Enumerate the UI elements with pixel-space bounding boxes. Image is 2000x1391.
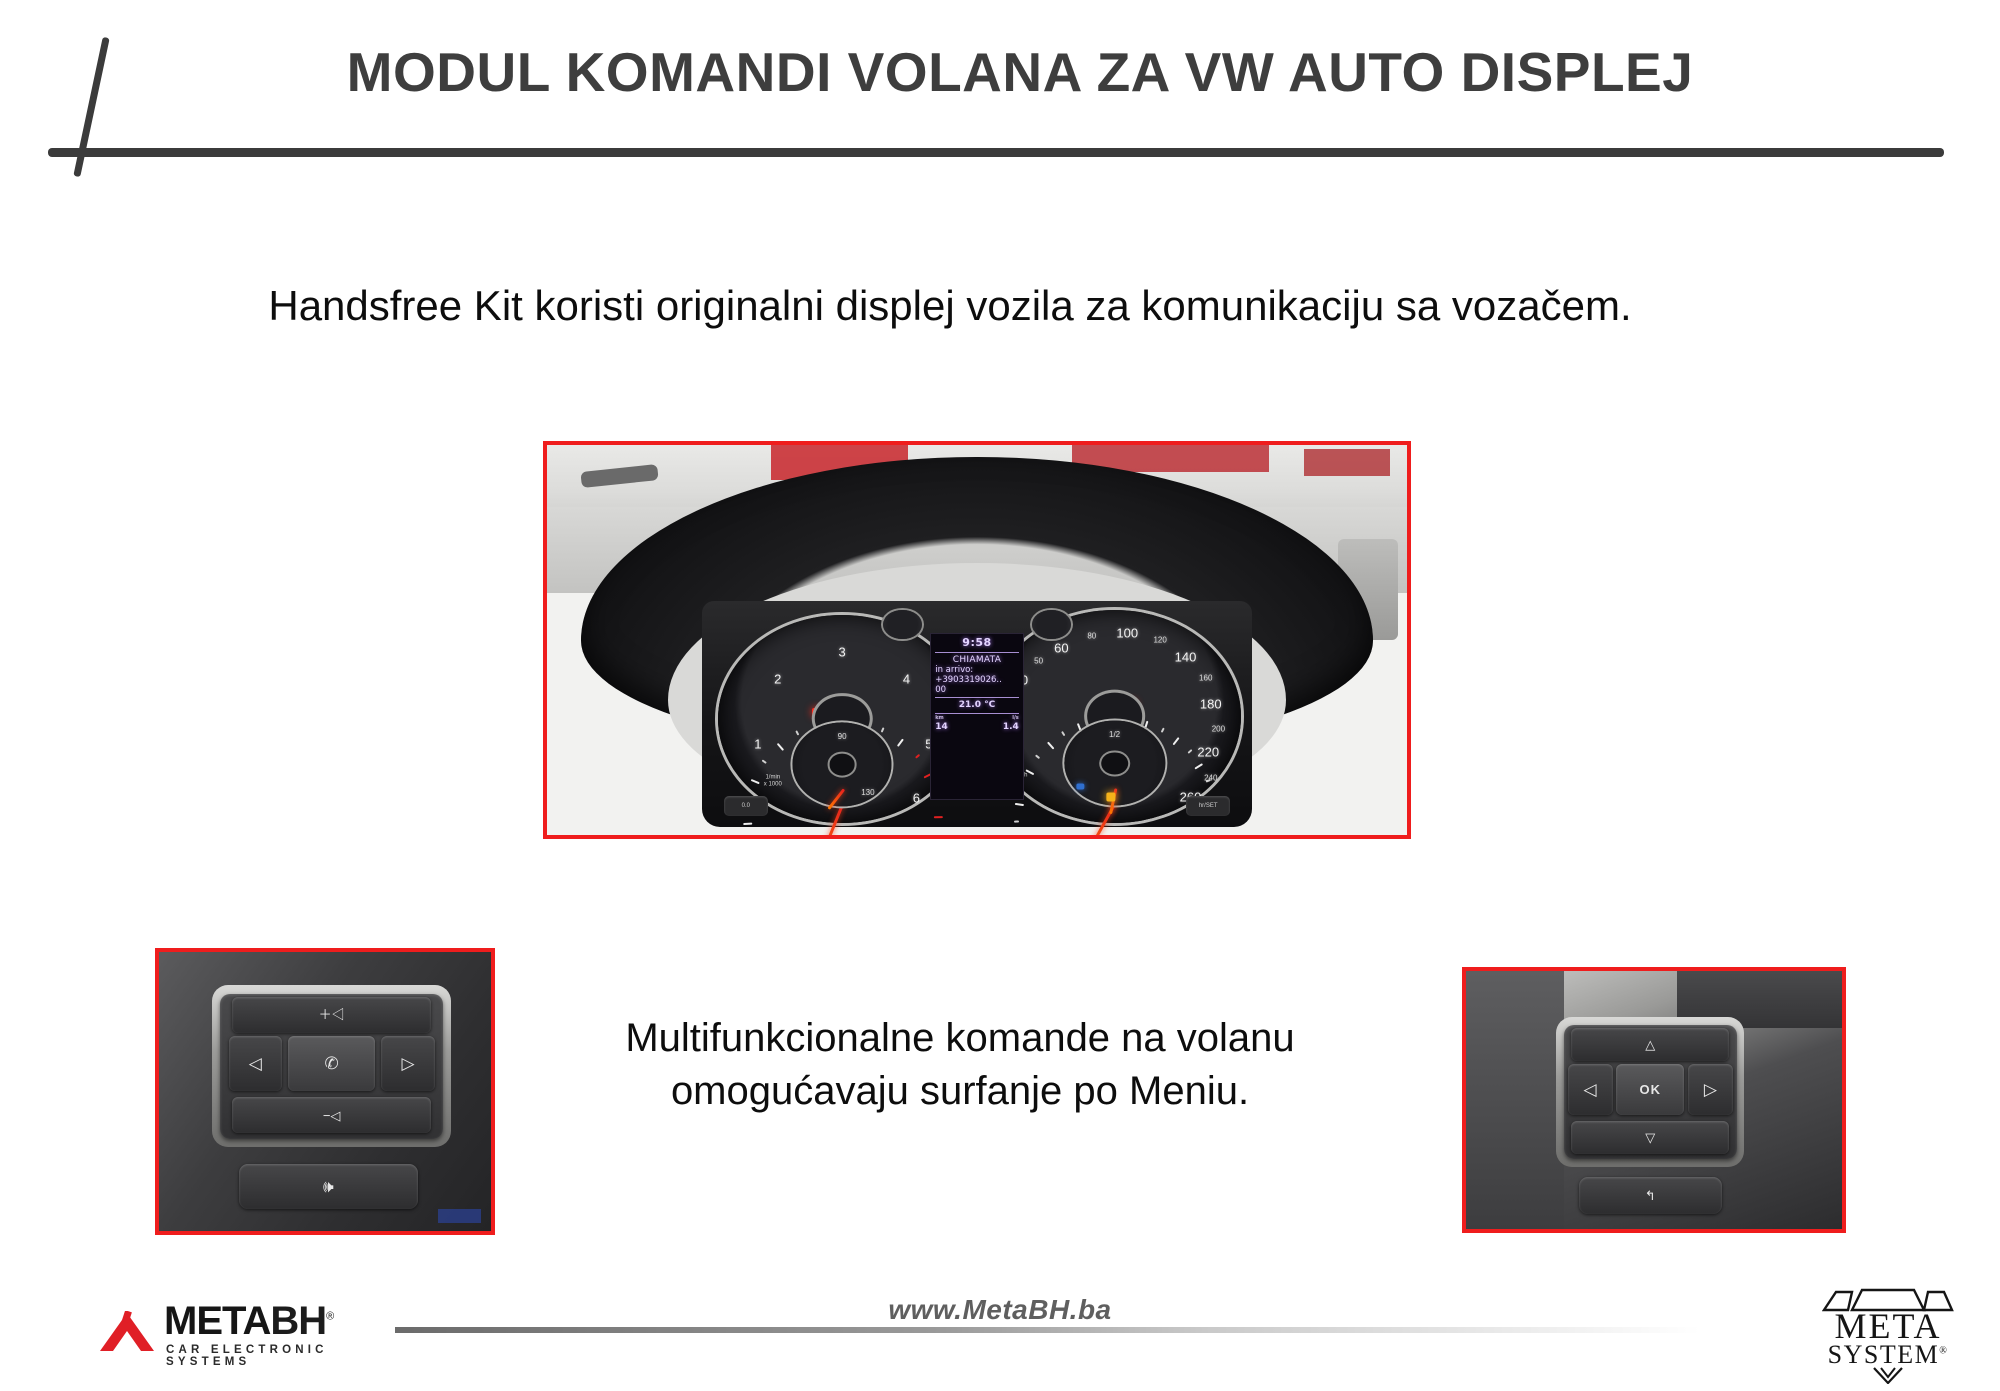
down-arrow-icon: ▽	[1645, 1131, 1655, 1144]
vw-instrument-cluster-photo: 1 2 3 4 5 6 1/min x 1000 0 90 130	[543, 441, 1411, 839]
back-arrow-icon: ↰	[1645, 1189, 1656, 1202]
trip-reset-button[interactable]: 0.0	[724, 796, 768, 816]
left-arrow-icon: ◁	[1584, 1081, 1597, 1098]
previous-button[interactable]: ◁	[229, 1036, 282, 1092]
speedo-label-140: 140	[1175, 649, 1197, 664]
speedo-label-160: 160	[1199, 674, 1212, 683]
mfd-divider	[935, 713, 1019, 714]
mfd-trip-left-unit: km	[935, 716, 944, 722]
speedo-label-50: 50	[1034, 657, 1043, 666]
right-wheel-leather-grip	[1466, 971, 1564, 1229]
tacho-label-2: 2	[774, 672, 781, 687]
coolant-label-130: 130	[861, 788, 874, 797]
fuel-level-gauge: 1/2	[1064, 721, 1165, 806]
fuel-label-half: 1/2	[1109, 730, 1120, 739]
page-title: MODUL KOMANDI VOLANA ZA VW AUTO DISPLEJ	[170, 40, 1870, 104]
metabh-registered-mark: ®	[326, 1311, 333, 1323]
mfd-trip-consumption: 1.4	[1003, 722, 1019, 733]
left-steering-wheel-controls-photo: ＋◁ ◁ ✆ ▷ −◁ 🕪	[155, 948, 495, 1235]
tacho-label-4: 4	[903, 672, 910, 687]
tacho-redline-tick	[843, 816, 943, 820]
coolant-label-90: 90	[838, 732, 847, 741]
phone-button[interactable]: ✆	[288, 1036, 374, 1092]
clock-set-button[interactable]: hr/SET	[1186, 796, 1230, 816]
up-arrow-icon: △	[1645, 1038, 1655, 1051]
tacho-label-1: 1	[754, 736, 761, 751]
phone-handset-icon: ✆	[325, 1055, 339, 1072]
speedometer-gauge: 0 10 20 30 40 50 60 80 100 120 140 160 1…	[988, 610, 1241, 823]
metabh-wordmark: METABH®	[164, 1301, 333, 1341]
mfd-caller-number: +3903319026..	[935, 675, 1019, 685]
intro-text: Handsfree Kit koristi originalni displej…	[140, 282, 1760, 330]
next-button[interactable]: ▷	[381, 1036, 434, 1092]
metasystem-registered-mark: ®	[1939, 1345, 1948, 1356]
speedo-label-100: 100	[1116, 626, 1138, 641]
controls-caption: Multifunkcionalne komande na volanu omog…	[540, 1012, 1380, 1118]
down-button[interactable]: ▽	[1571, 1121, 1729, 1155]
volume-up-button[interactable]: ＋◁	[232, 997, 431, 1033]
metabh-chevron-icon	[98, 1311, 156, 1353]
volume-down-button[interactable]: −◁	[232, 1097, 431, 1133]
left-photo-blue-artifact	[438, 1209, 481, 1223]
right-steering-wheel-controls-photo: △ ◁ OK ▷ ▽ ↰	[1462, 967, 1846, 1233]
left-arrow-icon: ◁	[249, 1055, 262, 1072]
metabh-word-bh: BH	[270, 1299, 326, 1343]
fuel-reserve-led	[1106, 792, 1115, 801]
coolant-hub	[829, 754, 855, 776]
slide-header: MODUL KOMANDI VOLANA ZA VW AUTO DISPLEJ	[0, 0, 2000, 180]
tacho-label-3: 3	[839, 645, 846, 660]
mfd-divider	[935, 697, 1019, 698]
mfd-trip-values: 14 1.4	[935, 722, 1019, 733]
tachometer-gauge: 1 2 3 4 5 6 1/min x 1000 0 90 130	[718, 615, 966, 823]
background-red-object-right	[1304, 449, 1390, 476]
metasystem-system-text: SYSTEM	[1828, 1340, 1940, 1369]
tacho-unit-label: 1/min x 1000	[764, 774, 782, 787]
metasystem-word-system: SYSTEM®	[1800, 1342, 1976, 1368]
volume-down-icon: −◁	[323, 1109, 341, 1122]
mfd-divider	[935, 652, 1019, 653]
speedo-label-180: 180	[1200, 696, 1222, 711]
right-arrow-icon: ▷	[1704, 1081, 1717, 1098]
mfd-call-status: in arrivo:	[935, 665, 1019, 675]
speedo-label-60: 60	[1054, 641, 1068, 656]
voice-control-button[interactable]: 🕪	[239, 1164, 418, 1209]
up-button[interactable]: △	[1571, 1028, 1729, 1062]
metabh-tagline: CAR ELECTRONIC SYSTEMS	[166, 1344, 388, 1368]
metabh-logo: METABH® CAR ELECTRONIC SYSTEMS	[98, 1301, 388, 1363]
mfd-trip-distance: 14	[935, 722, 948, 733]
cluster-scene: 1 2 3 4 5 6 1/min x 1000 0 90 130	[547, 445, 1407, 835]
metasystem-logo: META SYSTEM®	[1800, 1288, 1976, 1384]
cluster-bezel-pod-right	[1032, 610, 1071, 639]
fuel-warning-led-blue	[1076, 784, 1084, 790]
right-arrow-icon: ▷	[401, 1055, 414, 1072]
tacho-label-6: 6	[913, 790, 920, 805]
header-divider-rule	[48, 148, 1944, 157]
mfd-caller-number-cont: 00	[935, 685, 1019, 695]
right-button[interactable]: ▷	[1688, 1064, 1733, 1116]
mfd-outside-temperature: 21.0 °C	[935, 700, 1019, 711]
left-button[interactable]: ◁	[1568, 1064, 1613, 1116]
ok-button[interactable]: OK	[1616, 1064, 1684, 1116]
mfd-trip-right-unit: l/s	[1012, 716, 1019, 722]
mfd-clock: 9:58	[935, 637, 1019, 650]
speedo-label-120: 120	[1153, 635, 1166, 644]
fuel-hub	[1101, 752, 1127, 774]
multifunction-display: 9:58 CHIAMATA in arrivo: +3903319026.. 0…	[930, 633, 1024, 800]
footer-divider-rule	[395, 1327, 1700, 1333]
footer-website-url[interactable]: www.MetaBH.ba	[700, 1294, 1300, 1326]
speedo-label-220: 220	[1197, 745, 1219, 760]
speedo-label-240: 240	[1204, 774, 1217, 783]
voice-speaker-icon: 🕪	[323, 1178, 334, 1195]
tacho-redline-tick	[843, 817, 941, 839]
instrument-binnacle: 1 2 3 4 5 6 1/min x 1000 0 90 130	[702, 601, 1252, 827]
mfd-call-title: CHIAMATA	[935, 655, 1019, 666]
back-button[interactable]: ↰	[1579, 1177, 1722, 1213]
speedo-label-80: 80	[1087, 631, 1096, 640]
metabh-word-meta: META	[164, 1299, 270, 1343]
volume-up-icon: ＋◁	[319, 1008, 345, 1021]
metasystem-tail-icon	[1872, 1366, 1904, 1384]
metasystem-word-meta: META	[1800, 1308, 1976, 1344]
speedo-label-200: 200	[1212, 725, 1225, 734]
coolant-temperature-gauge: 90 130	[793, 723, 892, 806]
